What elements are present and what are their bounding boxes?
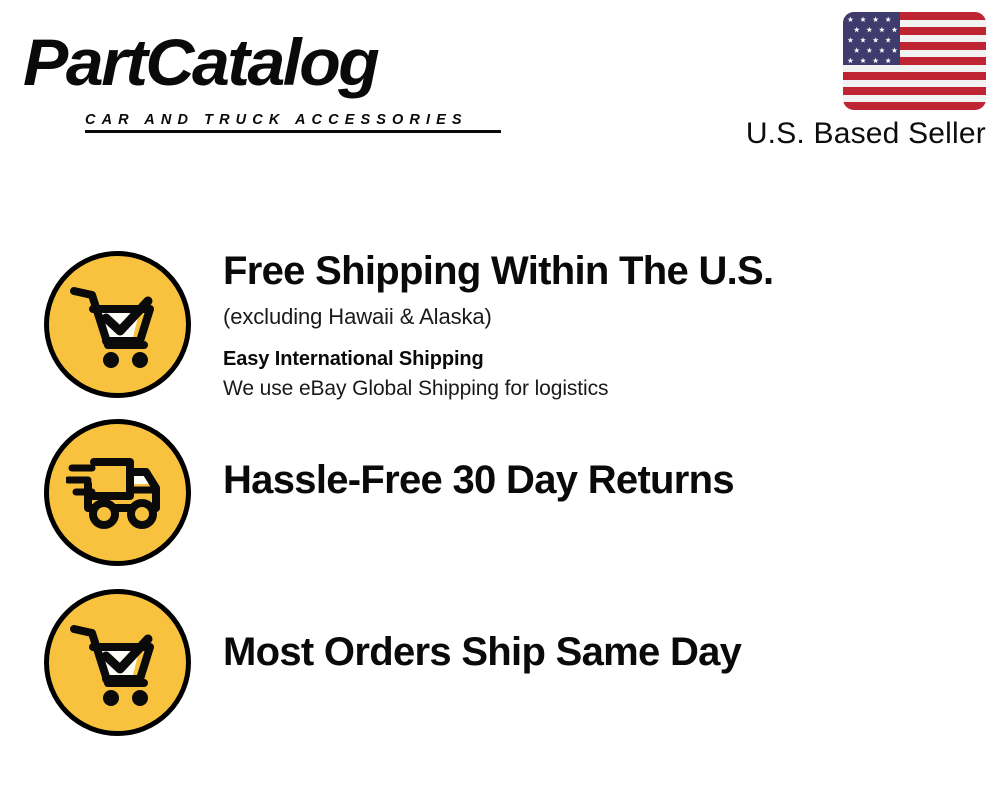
banner-header: PartCatalog CAR AND TRUCK ACCESSORIES (0, 0, 1000, 165)
feature-row: Most Orders Ship Same Day (0, 587, 1000, 737)
feature-row: Free Shipping Within The U.S. (excluding… (0, 248, 1000, 400)
shopping-cart-check-icon (44, 251, 191, 398)
us-based-seller-badge: U.S. Based Seller (714, 12, 986, 154)
delivery-truck-icon (44, 419, 191, 566)
feature-row: Hassle-Free 30 Day Returns (0, 417, 1000, 567)
feature-extra-subtitle: We use eBay Global Shipping for logistic… (223, 375, 990, 403)
brand-tagline: CAR AND TRUCK ACCESSORIES (85, 112, 468, 128)
feature-extra-title: Easy International Shipping (223, 346, 990, 372)
brand-underline (85, 130, 501, 133)
us-flag-icon (843, 12, 986, 110)
brand-wordmark: PartCatalog (23, 26, 377, 98)
feature-title: Free Shipping Within The U.S. (223, 248, 990, 295)
feature-text: Hassle-Free 30 Day Returns (223, 457, 990, 504)
feature-title: Hassle-Free 30 Day Returns (223, 457, 990, 504)
promo-banner: { "header": { "brand": { "wordmark": "Pa… (0, 0, 1000, 800)
partcatalog-logo[interactable]: PartCatalog CAR AND TRUCK ACCESSORIES (23, 26, 493, 116)
shopping-cart-check-icon (44, 589, 191, 736)
feature-text: Free Shipping Within The U.S. (excluding… (223, 248, 990, 403)
us-based-seller-label: U.S. Based Seller (746, 115, 986, 153)
feature-title: Most Orders Ship Same Day (223, 629, 990, 676)
feature-subtitle: (excluding Hawaii & Alaska) (223, 302, 990, 332)
flag-canton (843, 12, 900, 65)
feature-text: Most Orders Ship Same Day (223, 629, 990, 676)
